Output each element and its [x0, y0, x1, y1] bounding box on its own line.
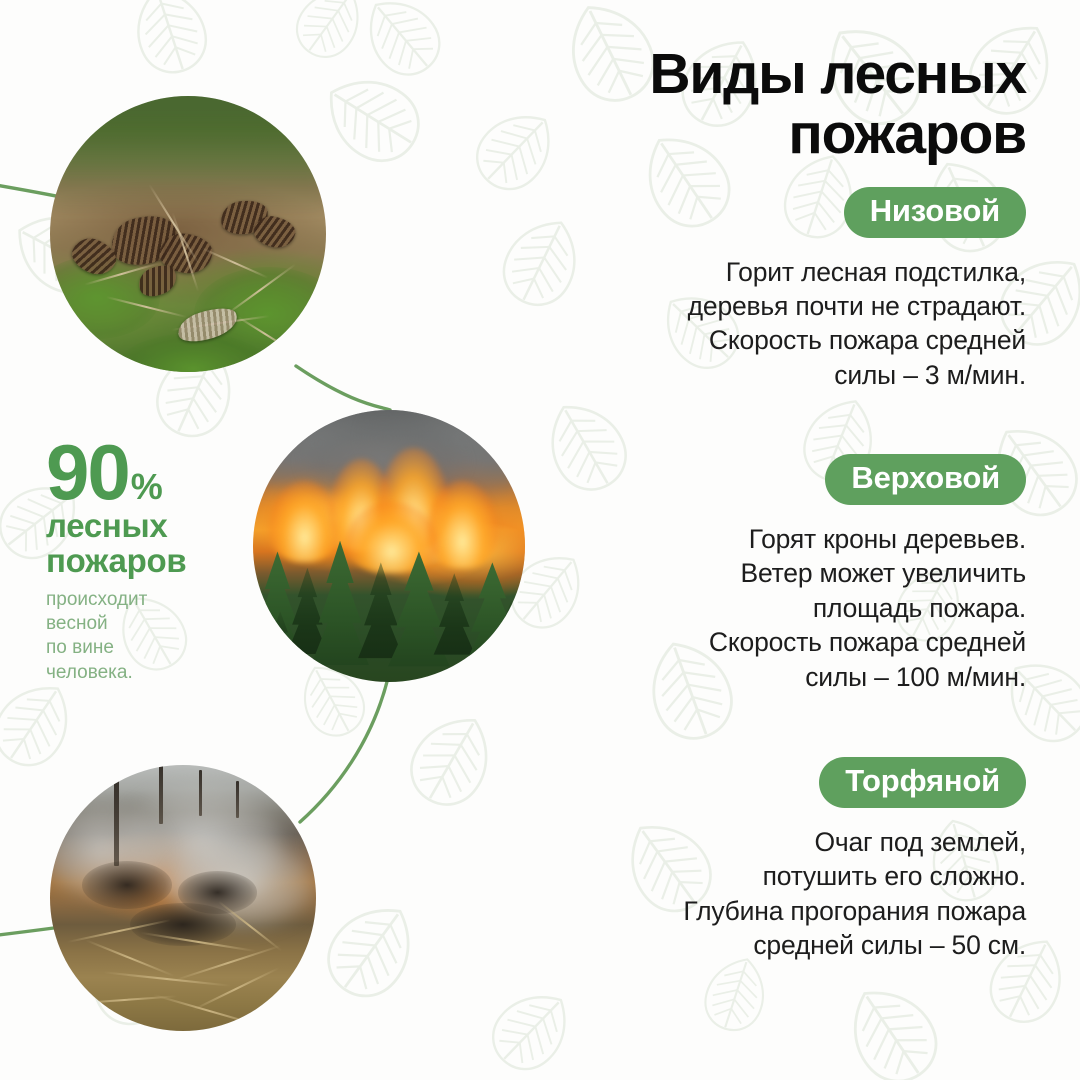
- statistic-subtext-line: весной: [46, 612, 296, 636]
- page-title-line: пожаров: [506, 104, 1026, 164]
- statistic-subtext-line: происходит: [46, 588, 296, 612]
- badge-wrap: Верховой: [506, 454, 1026, 505]
- badge-torfyanoy[interactable]: Торфяной: [819, 757, 1026, 808]
- statistic-subtext: происходит весной по вине человека.: [46, 588, 296, 685]
- infographic-canvas: 90 % лесных пожаров происходит весной по…: [0, 0, 1080, 1080]
- body-line: Ветер может увеличить: [506, 556, 1026, 590]
- body-line: Очаг под землей,: [506, 825, 1026, 859]
- body-line: Скорость пожара средней: [506, 625, 1026, 659]
- statistic-label-line1: лесных: [46, 509, 296, 544]
- body-line: Горят кроны деревьев.: [506, 522, 1026, 556]
- section-body-torfyanoy: Очаг под землей, потушить его сложно. Гл…: [506, 825, 1026, 963]
- body-line: деревья почти не страдают.: [506, 289, 1026, 323]
- body-line: Горит лесная подстилка,: [506, 255, 1026, 289]
- page-title: Виды лесных пожаров: [506, 44, 1026, 165]
- statistic-subtext-line: человека.: [46, 661, 296, 685]
- forest-floor-photo: [50, 96, 326, 372]
- statistic-number-row: 90 %: [46, 437, 296, 509]
- section-torfyanoy: Торфяной Очаг под землей, потушить его с…: [506, 757, 1026, 962]
- body-line: силы – 100 м/мин.: [506, 660, 1026, 694]
- section-verhovoy: Верховой Горят кроны деревьев. Ветер мож…: [506, 454, 1026, 694]
- section-body-nizovoy: Горит лесная подстилка, деревья почти не…: [506, 255, 1026, 393]
- statistic-percent-symbol: %: [131, 470, 163, 503]
- badge-wrap: Низовой: [506, 187, 1026, 238]
- body-line: Глубина прогорания пожара: [506, 894, 1026, 928]
- statistic-number: 90: [46, 437, 129, 509]
- body-line: Скорость пожара средней: [506, 323, 1026, 357]
- statistic-block: 90 % лесных пожаров происходит весной по…: [46, 437, 296, 685]
- section-body-verhovoy: Горят кроны деревьев. Ветер может увелич…: [506, 522, 1026, 694]
- peat-fire-photo: [50, 765, 316, 1031]
- section-nizovoy: Низовой Горит лесная подстилка, деревья …: [506, 187, 1026, 392]
- page-title-line: Виды лесных: [506, 44, 1026, 104]
- badge-verhovoy[interactable]: Верховой: [825, 454, 1026, 505]
- body-line: силы – 3 м/мин.: [506, 358, 1026, 392]
- body-line: средней силы – 50 см.: [506, 928, 1026, 962]
- badge-nizovoy[interactable]: Низовой: [844, 187, 1026, 238]
- body-line: площадь пожара.: [506, 591, 1026, 625]
- badge-wrap: Торфяной: [506, 757, 1026, 808]
- statistic-label-line2: пожаров: [46, 544, 296, 579]
- statistic-subtext-line: по вине: [46, 636, 296, 660]
- body-line: потушить его сложно.: [506, 859, 1026, 893]
- content-column: Виды лесных пожаров Низовой Горит лесная…: [506, 44, 1026, 963]
